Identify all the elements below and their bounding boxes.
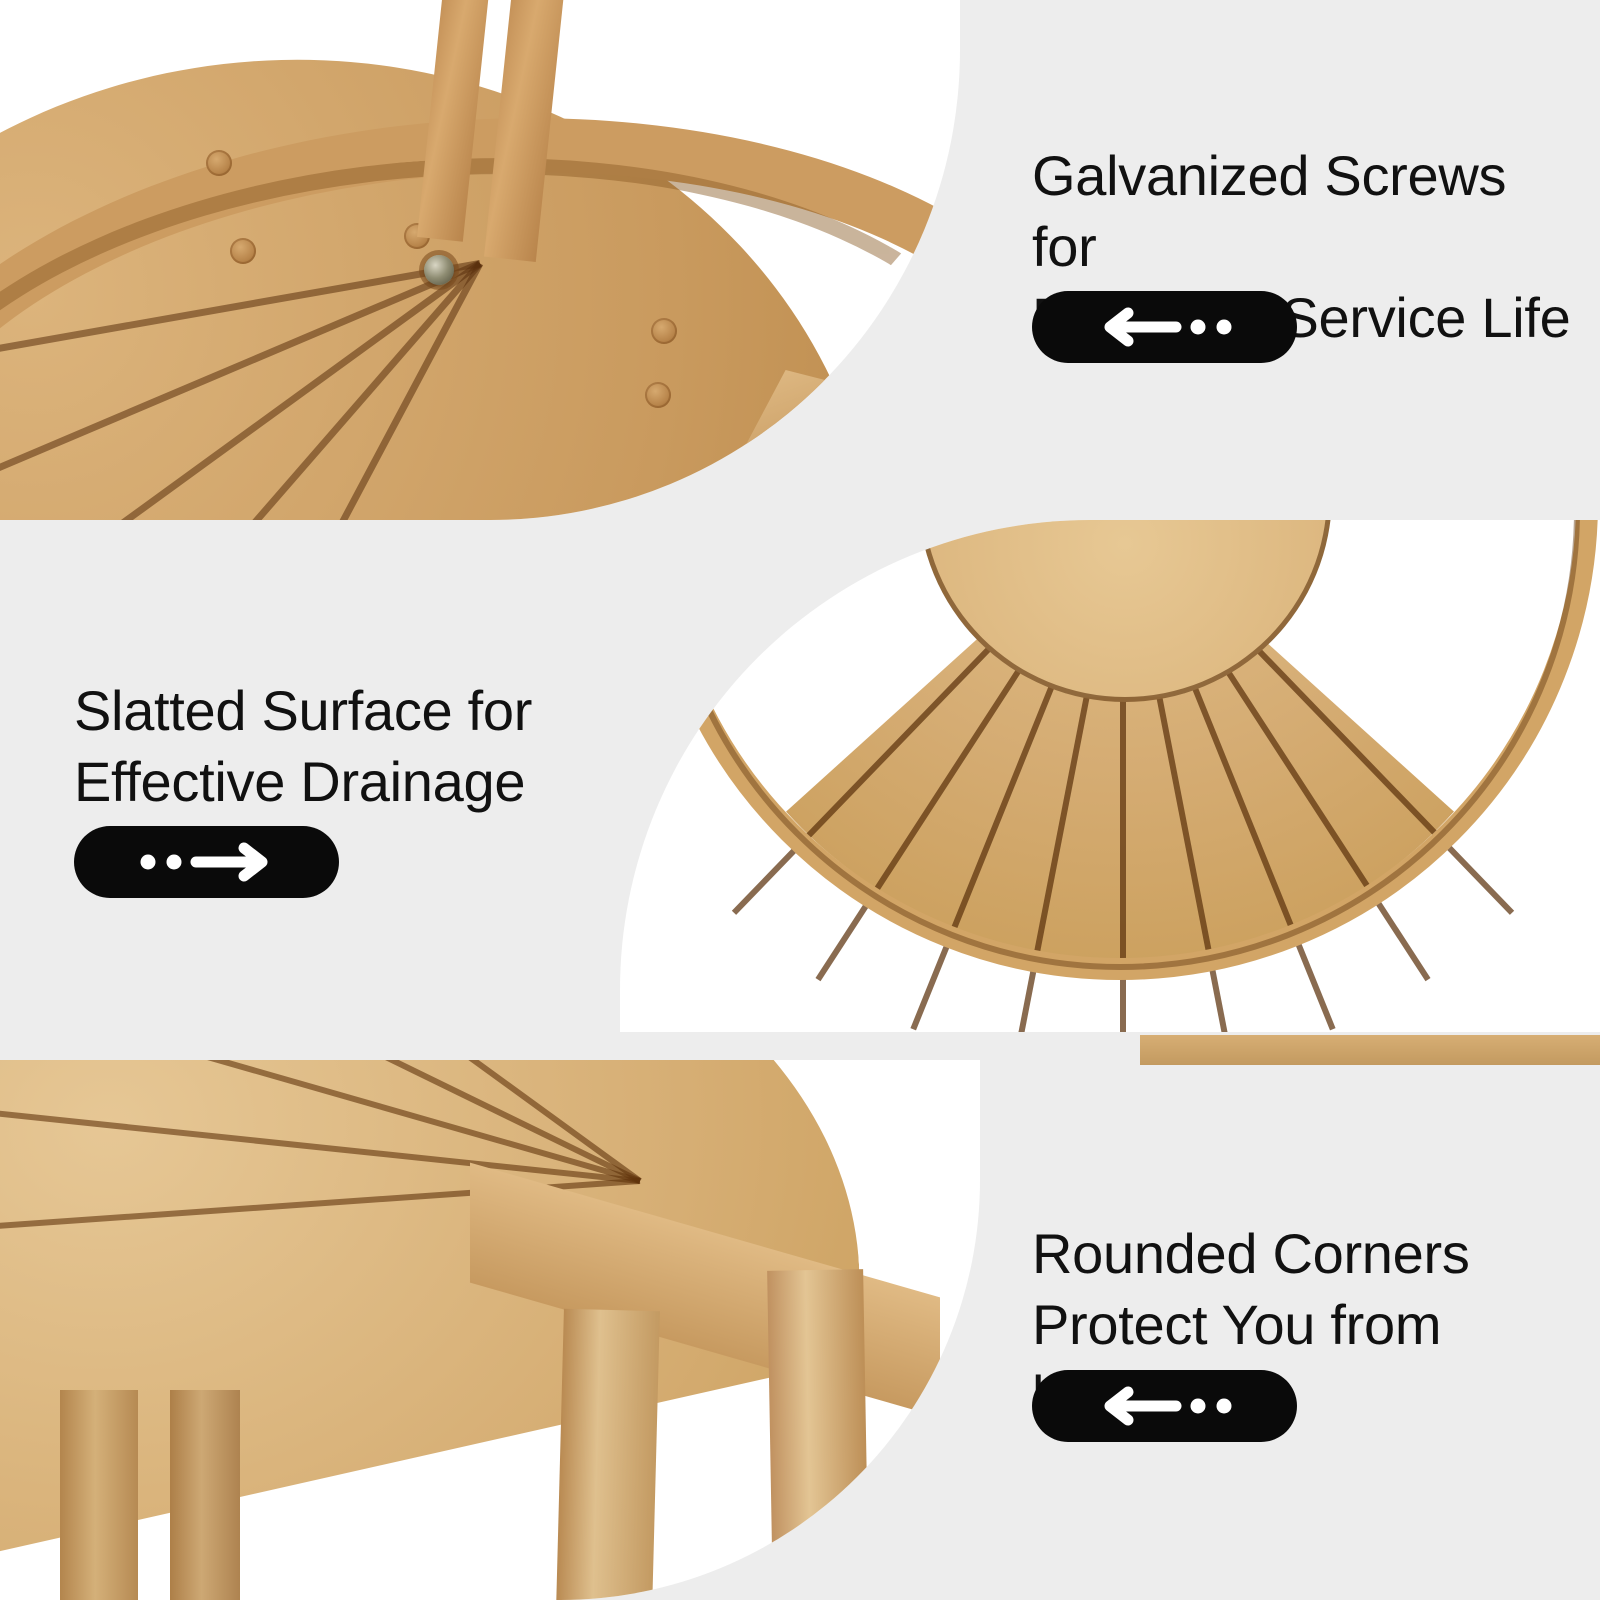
- dowel-plug: [206, 150, 232, 176]
- dowel-plug: [230, 238, 256, 264]
- dowel-plug: [651, 318, 677, 344]
- feature-title-slatted-surface: Slatted Surface for Effective Drainage: [74, 675, 614, 817]
- feature-photo-panel-rounded-corners: [0, 1060, 980, 1600]
- table-leg: [767, 1269, 869, 1600]
- dowel-plug: [645, 382, 671, 408]
- feature-photo-panel-slatted-surface: [620, 520, 1600, 1032]
- table-leg: [556, 1309, 660, 1600]
- table-leg: [60, 1390, 138, 1600]
- feature-photo-panel-galvanized-screws: [0, 0, 960, 520]
- wood-edge-sliver: [1140, 1035, 1600, 1065]
- table-leg: [170, 1390, 240, 1600]
- galvanized-screw-icon: [424, 255, 454, 285]
- arrow-right-with-dots-icon: [132, 840, 282, 884]
- arrow-left-with-dots-icon: [1090, 305, 1240, 349]
- outer-edge-shadow: [660, 520, 1580, 970]
- infographic-canvas: Galvanized Screws for Extended Service L…: [0, 0, 1600, 1600]
- pointer-pill-galvanized-screws: [1032, 291, 1297, 363]
- pointer-pill-slatted-surface: [74, 826, 339, 898]
- arrow-left-with-dots-icon: [1090, 1384, 1240, 1428]
- pointer-pill-rounded-corners: [1032, 1370, 1297, 1442]
